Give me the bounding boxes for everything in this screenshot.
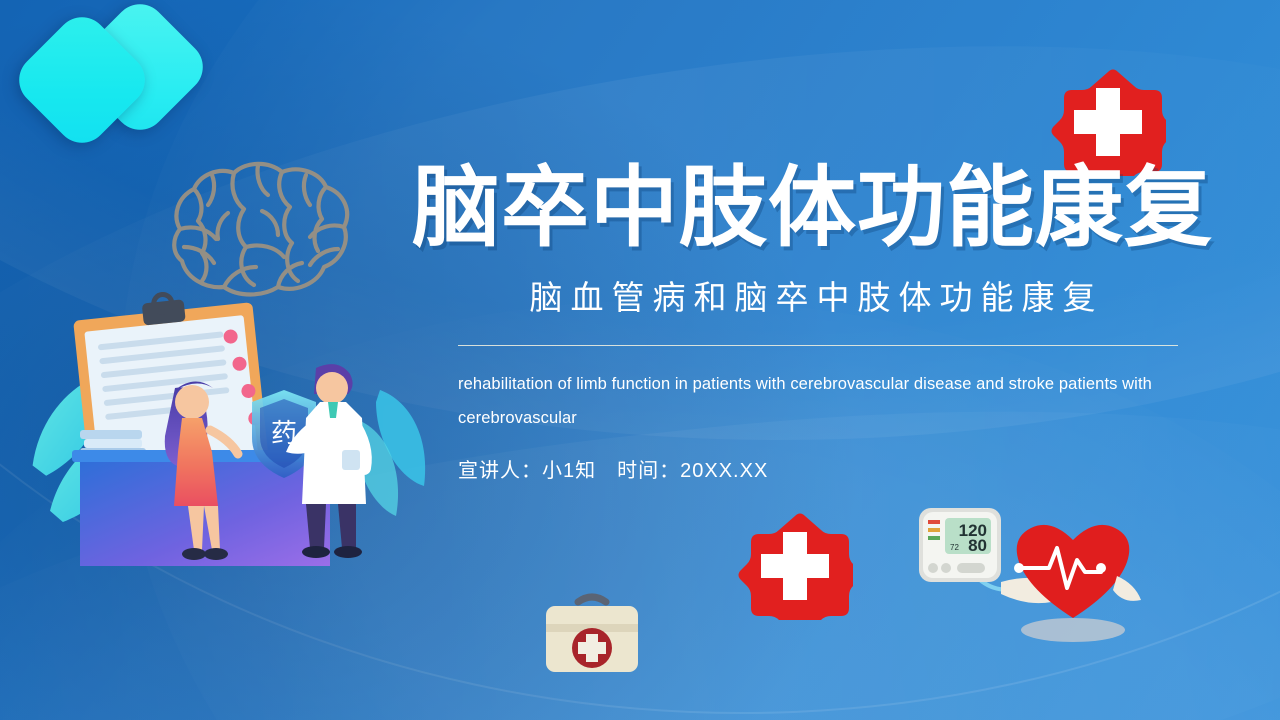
diastolic-value: 80 — [968, 536, 987, 555]
divider — [458, 345, 1178, 346]
brain-outline-icon — [150, 155, 365, 305]
first-aid-kit-icon — [540, 590, 644, 676]
presentation-slide: 药 — [0, 0, 1280, 720]
presenter-line: 宣讲人：小1知 时间：20XX.XX — [458, 454, 1245, 483]
brand-logo — [18, 10, 228, 160]
heart-shadow — [1021, 618, 1125, 642]
blood-pressure-and-heart-icons: 120 80 72 — [905, 490, 1170, 650]
page-title: 脑卒中肢体功能康复 — [380, 160, 1245, 255]
blood-pressure-monitor: 120 80 72 — [919, 508, 1001, 582]
english-description: rehabilitation of limb function in patie… — [458, 368, 1198, 436]
title-text-block: 脑卒中肢体功能康复 脑血管病和脑卒中肢体功能康复 rehabilitation … — [380, 160, 1245, 483]
doctor-and-patient-illustration: 药 — [20, 290, 440, 590]
pulse-value: 72 — [950, 543, 959, 552]
page-subtitle: 脑血管病和脑卒中肢体功能康复 — [380, 271, 1245, 319]
heart-with-ecg-icon — [1014, 525, 1141, 618]
medical-cross-badge-icon — [737, 512, 853, 620]
